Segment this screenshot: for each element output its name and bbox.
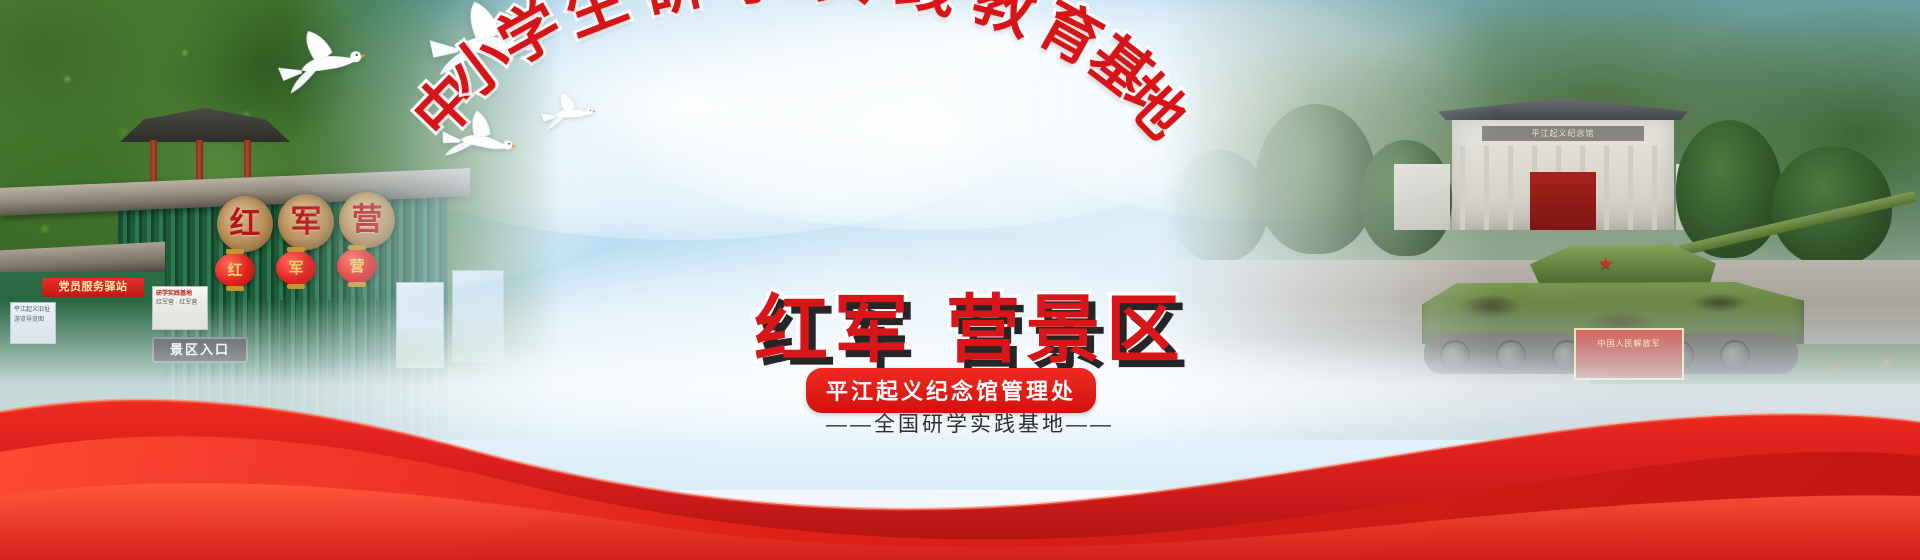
gate-plaque: 红 [217,196,273,252]
party-service-sign: 党员服务驿站 [42,278,144,297]
lantern: 营 [337,249,377,283]
lantern: 红 [215,253,255,287]
arc-headline: 中小学生研学实践教育基地 [420,38,1180,268]
banner-root: 红 军 营 红 军 营 党员服务驿站 研学实践基地 红军营 · 红军营 平江起义… [0,0,1920,560]
red-ribbon-decoration [0,300,1920,560]
tree [1172,150,1268,262]
notice-board-title: 研学实践基地 [156,291,192,297]
gate-plaque: 军 [278,194,334,250]
lantern: 军 [276,251,316,285]
hall-roof [1438,98,1688,120]
hall-plaque: 平江起义纪念馆 [1482,126,1644,141]
tree [1256,104,1376,254]
gate-plaque: 营 [339,192,395,248]
red-star-icon: ★ [1598,255,1613,272]
